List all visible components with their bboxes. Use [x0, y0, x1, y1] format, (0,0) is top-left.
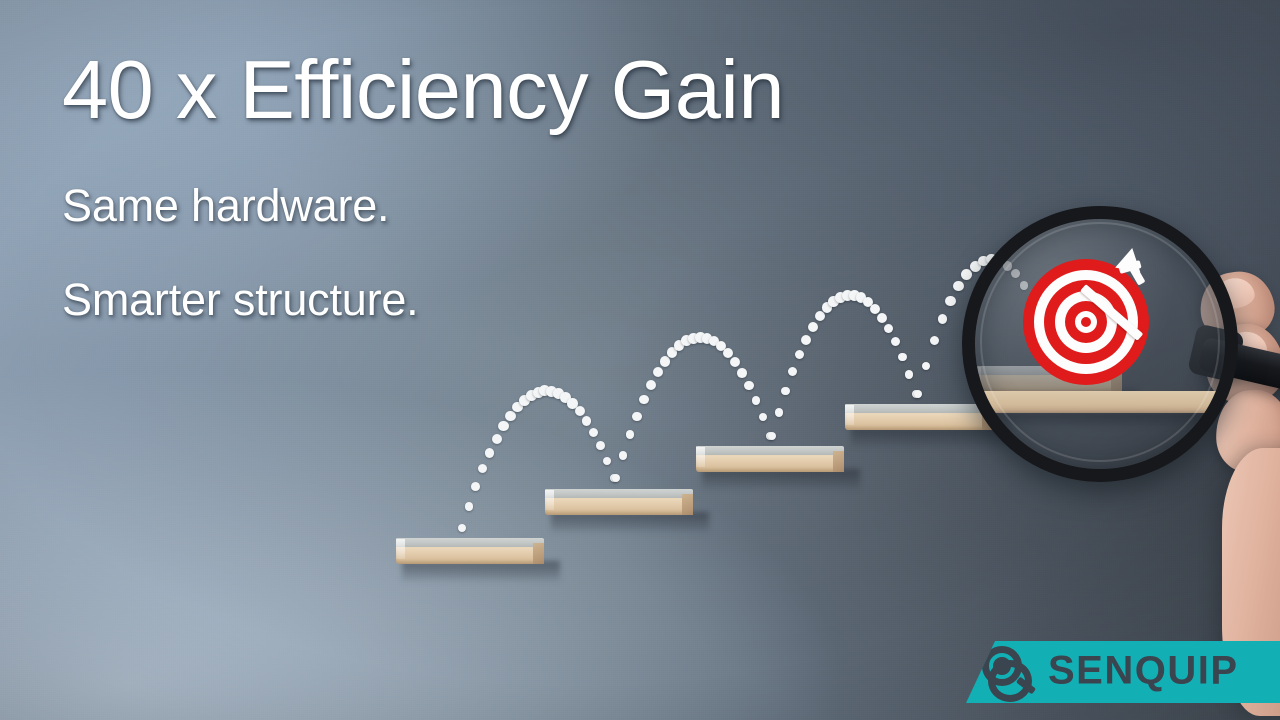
step-shadow	[551, 512, 709, 534]
magnifying-glass	[962, 206, 1280, 496]
lens-inner-gloss	[980, 222, 1220, 462]
step-left-highlight	[845, 405, 854, 425]
text-block: 40 x Efficiency Gain Same hardware. Smar…	[62, 48, 784, 326]
step-3	[696, 446, 844, 472]
step-left-highlight	[696, 447, 705, 467]
senquip-logo[interactable]: SENQUIP	[966, 641, 1280, 703]
step-2	[545, 489, 693, 515]
step-right-end	[833, 451, 844, 472]
step-top-edge	[545, 489, 693, 498]
page-title: 40 x Efficiency Gain	[62, 48, 784, 133]
step-left-highlight	[396, 539, 405, 559]
step-shadow	[702, 469, 860, 491]
step-1	[396, 538, 544, 564]
senquip-signal-mark-icon	[982, 646, 1036, 700]
magnifier-lens	[962, 206, 1238, 482]
step-top-edge	[396, 538, 544, 547]
subtitle-line-1: Same hardware.	[62, 180, 784, 232]
step-front-face	[545, 498, 693, 515]
step-front-face	[696, 455, 844, 472]
step-right-end	[533, 543, 544, 564]
step-left-highlight	[545, 490, 554, 510]
subtitle-line-2: Smarter structure.	[62, 274, 784, 326]
step-right-end	[682, 494, 693, 515]
slide-canvas: 40 x Efficiency Gain Same hardware. Smar…	[0, 0, 1280, 720]
step-top-edge	[696, 446, 844, 455]
step-front-face	[396, 547, 544, 564]
senquip-wordmark: SENQUIP	[1048, 649, 1239, 694]
step-shadow	[402, 561, 560, 583]
